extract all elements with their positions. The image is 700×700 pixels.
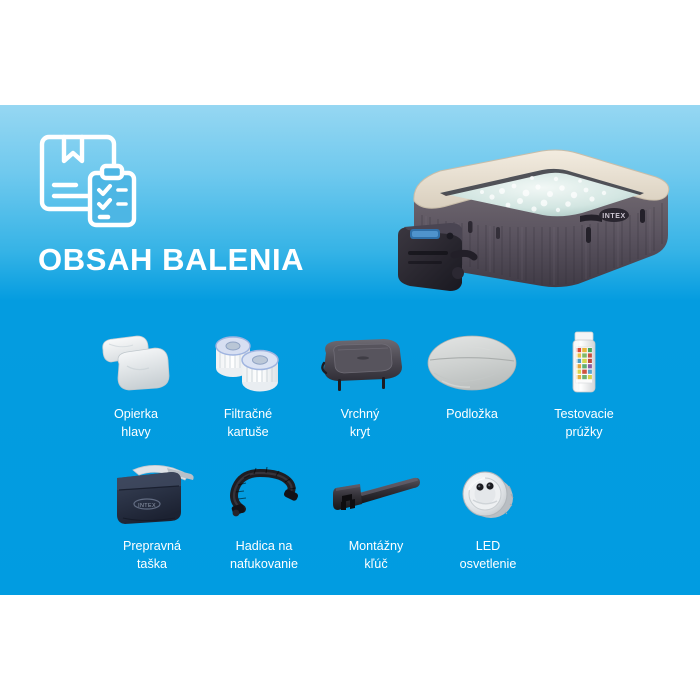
svg-text:INTEX: INTEX [138,503,156,509]
top-cover-icon [312,330,408,396]
accessory-row-2: INTEX Prepravná taška [80,462,560,574]
poster-canvas: OBSAH BALENIA [0,0,700,700]
accessory-label: Prepravná taška [123,538,181,574]
accessory-label: Podložka [446,406,498,424]
accessory-label: LED osvetlenie [460,538,517,574]
accessory-item-ground-mat[interactable]: Podložka [416,330,528,424]
headrest-icon [88,330,184,396]
filter-cartridge-icon [200,330,296,396]
accessory-label: Opierka hlavy [114,406,158,442]
accessory-label: Hadica na nafukovanie [230,538,298,574]
accessory-item-test-strips[interactable]: Testovacie prúžky [528,330,640,442]
wrench-icon [328,462,424,528]
hot-tub-product-image: INTEX [392,143,680,291]
accessory-item-top-cover[interactable]: Vrchný kryt [304,330,416,442]
accessory-item-led-light[interactable]: LED osvetlenie [432,462,544,574]
ground-mat-icon [424,330,520,396]
test-strips-icon [536,330,632,396]
accessory-label: Filtračné kartuše [224,406,272,442]
accessory-item-wrench[interactable]: Montážny kľúč [320,462,432,574]
accessory-item-inflate-hose[interactable]: Hadica na nafukovanie [208,462,320,574]
page-title: OBSAH BALENIA [38,244,304,275]
accessory-label: Testovacie prúžky [554,406,614,442]
svg-text:INTEX: INTEX [602,213,626,220]
accessory-item-carry-bag[interactable]: INTEX Prepravná taška [96,462,208,574]
led-light-icon [440,462,536,528]
accessory-label: Montážny kľúč [349,538,404,574]
accessory-row-1: Opierka hlavy [80,330,640,442]
accessory-item-headrest[interactable]: Opierka hlavy [80,330,192,442]
accessory-label: Vrchný kryt [341,406,380,442]
carry-bag-icon: INTEX [104,462,200,528]
inflate-hose-icon [216,462,312,528]
accessory-item-filter-cartridge[interactable]: Filtračné kartuše [192,330,304,442]
package-checklist-icon [38,133,142,229]
